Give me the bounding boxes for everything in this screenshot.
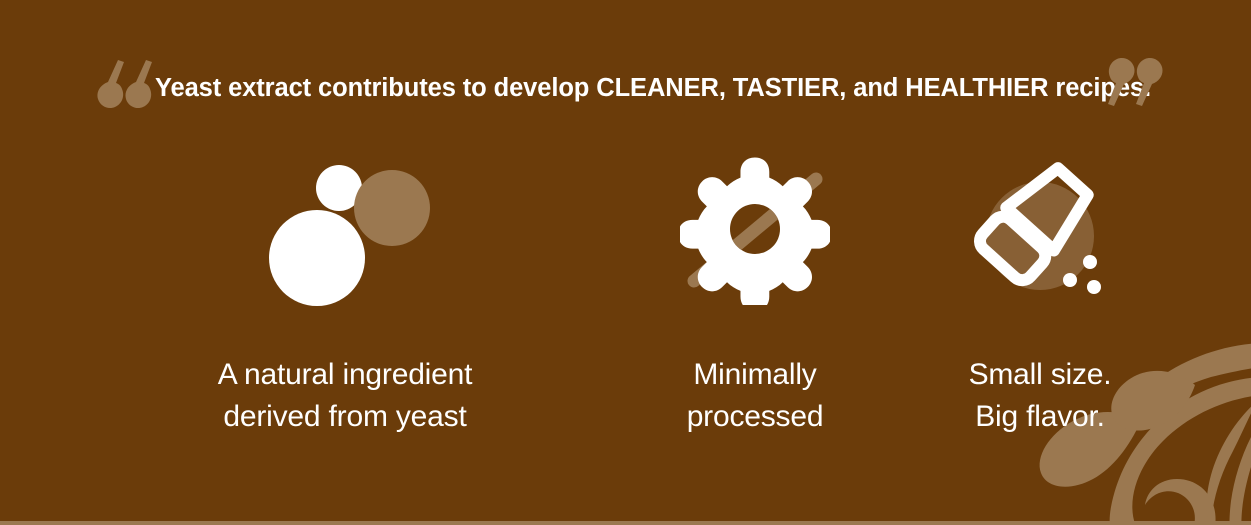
feature-flavor-label: Small size. Big flavor.	[969, 354, 1112, 438]
close-quote-mark-icon	[1108, 56, 1164, 108]
gear-crossed-out-icon	[680, 150, 830, 310]
quote-row: Yeast extract contributes to develop CLE…	[0, 28, 1251, 108]
feature-minimal: Minimally processed	[640, 150, 870, 438]
open-quote-mark-icon	[96, 58, 152, 110]
yeast-extract-banner: Yeast extract contributes to develop CLE…	[0, 0, 1251, 525]
feature-columns: A natural ingredient derived from yeast	[0, 150, 1251, 460]
spice-shaker-icon	[960, 150, 1120, 310]
three-circles-icon	[255, 150, 435, 310]
feature-natural: A natural ingredient derived from yeast	[110, 150, 580, 438]
bottom-edge-strip	[0, 521, 1251, 525]
feature-natural-label: A natural ingredient derived from yeast	[218, 354, 473, 438]
page-title: Yeast extract contributes to develop CLE…	[155, 71, 1105, 105]
feature-flavor: Small size. Big flavor.	[925, 150, 1155, 438]
feature-minimal-label: Minimally processed	[687, 354, 824, 438]
